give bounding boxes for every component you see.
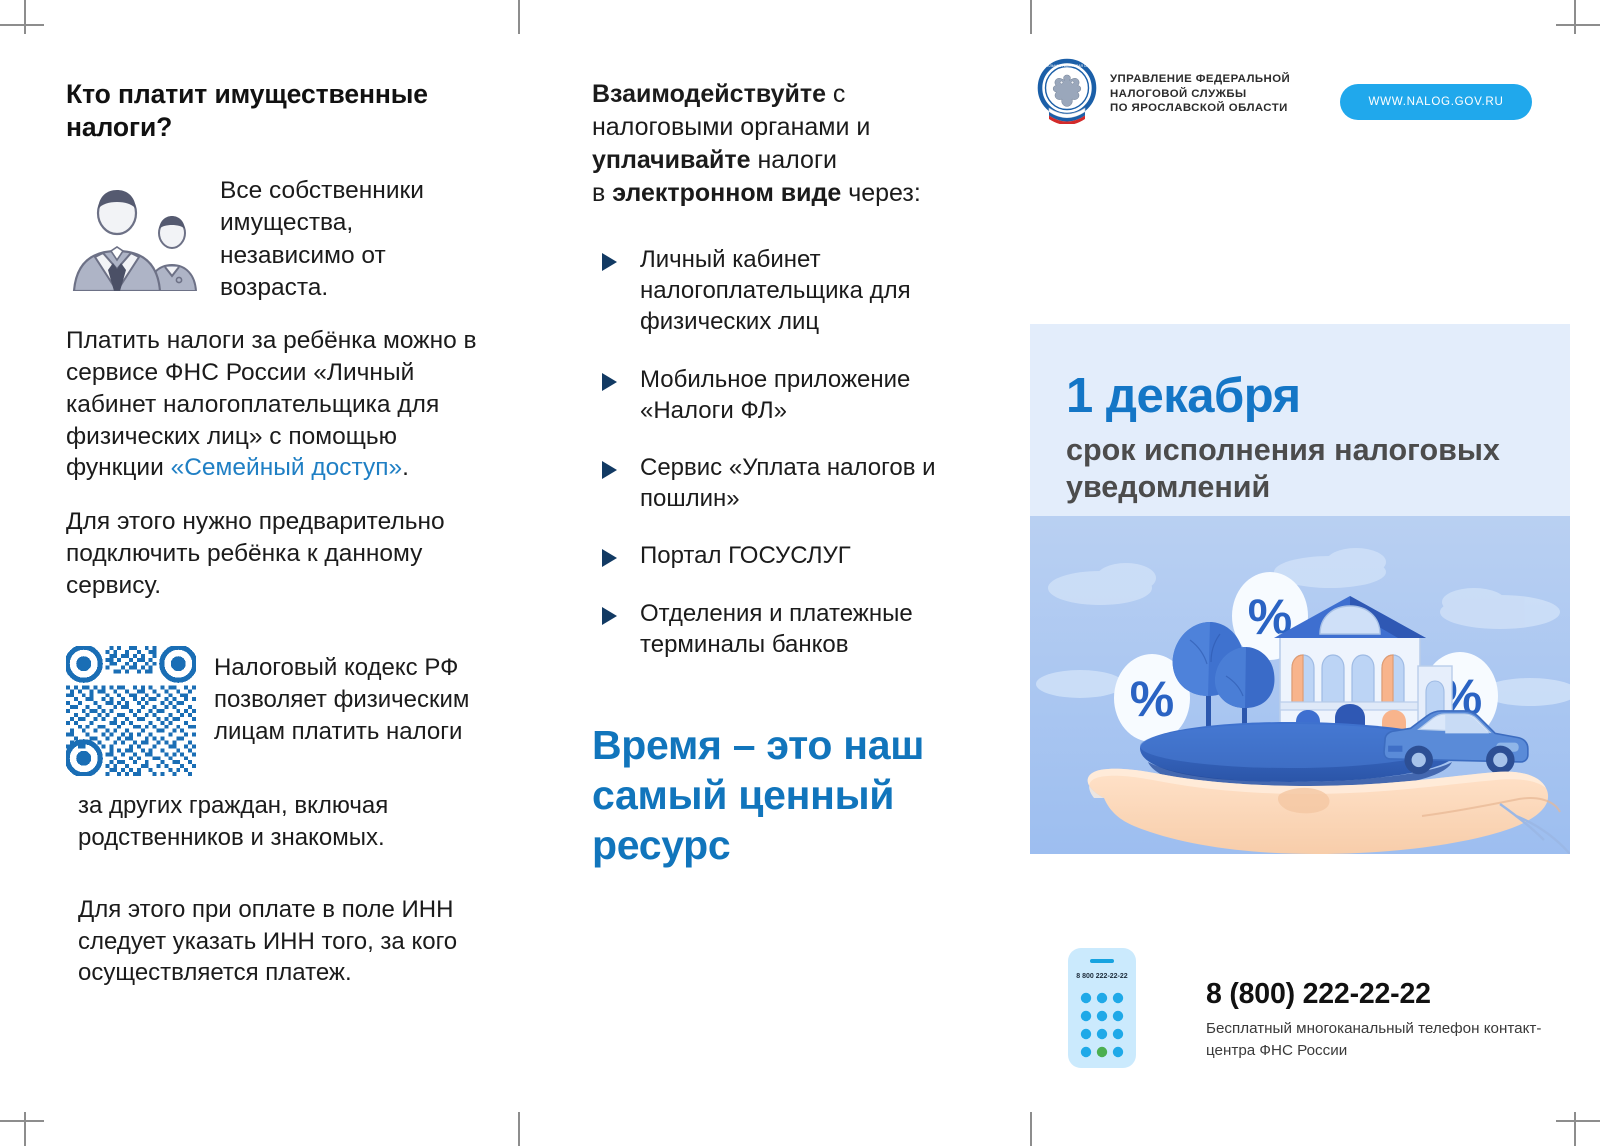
crop-mark-corner-br-v [1574, 1112, 1576, 1146]
crop-mark-corner-tr-v [1574, 0, 1576, 34]
crop-mark-corner-bl-v [24, 1112, 26, 1146]
column-who-pays: Кто платит имущественные налоги? [66, 78, 486, 989]
family-access-link[interactable]: «Семейный доступ» [171, 454, 403, 481]
triangle-bullet-icon [602, 607, 617, 625]
page-title: Кто платит имущественные налоги? [66, 78, 486, 145]
list-item[interactable]: Сервис «Уплата налогов и пошлин» [592, 452, 982, 514]
family-icon [66, 179, 206, 291]
crop-mark-corner-tl-v [24, 0, 26, 34]
promo-date: 1 декабря [1066, 368, 1301, 424]
triangle-bullet-icon [602, 461, 617, 479]
tax-code-text-continued: за других граждан, включая родственников… [78, 790, 486, 854]
qr-code-icon[interactable] [66, 646, 196, 776]
column-e-services: Взаимодействуйте с налоговыми органами и… [592, 78, 982, 870]
child-payment-post: . [402, 454, 409, 481]
svg-text:ФЕДЕРАЛЬНАЯ НАЛОГОВАЯ СЛУЖБА: ФЕДЕРАЛЬНАЯ НАЛОГОВАЯ СЛУЖБА [1036, 64, 1099, 68]
brochure-page: Кто платит имущественные налоги? [0, 0, 1600, 1146]
crop-mark-bottom-2 [1030, 1112, 1032, 1146]
list-item-label: Личный кабинет налогоплательщика для физ… [640, 246, 911, 335]
fns-emblem-icon: ФЕДЕРАЛЬНАЯ НАЛОГОВАЯ СЛУЖБА [1034, 58, 1104, 124]
list-item-label: Мобильное приложение «Налоги ФЛ» [640, 366, 910, 424]
owners-block: Все собственники имущества, независимо о… [66, 171, 486, 305]
contact-block: 8 800 222-22-22 8 (800) 222-22-22 Беспла… [1066, 946, 1566, 1086]
child-payment-paragraph: Платить налоги за ребёнка можно в сервис… [66, 325, 486, 484]
svg-text:%: % [1130, 671, 1174, 727]
promo-panel: 1 декабря срок исполнения налоговых увед… [1030, 324, 1570, 854]
phone-description: Бесплатный многоканальный телефон контак… [1206, 1018, 1556, 1061]
lead-pre-3: в [592, 179, 612, 207]
promo-subtitle: срок исполнения налоговых уведомлений [1066, 432, 1546, 505]
list-item-label: Отделения и платежные терминалы банков [640, 600, 913, 658]
list-item[interactable]: Личный кабинет налогоплательщика для физ… [592, 244, 982, 338]
crop-mark-corner-tl-h [0, 24, 44, 26]
crop-mark-top-1 [518, 0, 520, 34]
list-item[interactable]: Мобильное приложение «Налоги ФЛ» [592, 364, 982, 426]
hand-holding-property-illustration: % % % [1030, 516, 1570, 854]
mobile-phone-keypad-icon: 8 800 222-22-22 [1066, 946, 1138, 1070]
phone-screen-label: 8 800 222-22-22 [1076, 973, 1127, 980]
slogan: Время – это наш самый ценный ресурс [592, 720, 982, 870]
website-button[interactable]: WWW.NALOG.GOV.RU [1340, 84, 1532, 120]
lead-rest-2: налоги [751, 146, 838, 174]
inn-paragraph: Для этого при оплате в поле ИНН следует … [78, 894, 486, 990]
list-item[interactable]: Портал ГОСУСЛУГ [592, 540, 982, 571]
lead-bold-1: Взаимодействуйте [592, 80, 826, 108]
crop-mark-bottom-1 [518, 1112, 520, 1146]
list-item-label: Портал ГОСУСЛУГ [640, 542, 851, 569]
brand-header: ФЕДЕРАЛЬНАЯ НАЛОГОВАЯ СЛУЖБА УПРАВЛЕНИЕ … [1030, 56, 1570, 126]
lead-bold-2: уплачивайте [592, 146, 751, 174]
org-name: УПРАВЛЕНИЕ ФЕДЕРАЛЬНОЙ НАЛОГОВОЙ СЛУЖБЫ … [1110, 72, 1290, 116]
connect-child-paragraph: Для этого нужно предварительно подключит… [66, 506, 486, 602]
crop-mark-corner-bl-h [0, 1120, 44, 1122]
e-service-list: Личный кабинет налогоплательщика для физ… [592, 244, 982, 660]
phone-number[interactable]: 8 (800) 222-22-22 [1206, 978, 1431, 1011]
qr-block: Налоговый кодекс РФ позволяет физическим… [66, 646, 486, 780]
triangle-bullet-icon [602, 373, 617, 391]
list-item[interactable]: Отделения и платежные терминалы банков [592, 598, 982, 660]
lead-paragraph: Взаимодействуйте с налоговыми органами и… [592, 78, 982, 210]
lead-post-3: через: [841, 179, 921, 207]
crop-mark-corner-br-h [1556, 1120, 1600, 1122]
list-item-label: Сервис «Уплата налогов и пошлин» [640, 454, 936, 512]
triangle-bullet-icon [602, 253, 617, 271]
lead-bold-3: электронном виде [612, 179, 841, 207]
crop-mark-corner-tr-h [1556, 24, 1600, 26]
triangle-bullet-icon [602, 549, 617, 567]
crop-mark-top-2 [1030, 0, 1032, 34]
column-promo: ФЕДЕРАЛЬНАЯ НАЛОГОВАЯ СЛУЖБА УПРАВЛЕНИЕ … [1030, 56, 1570, 126]
